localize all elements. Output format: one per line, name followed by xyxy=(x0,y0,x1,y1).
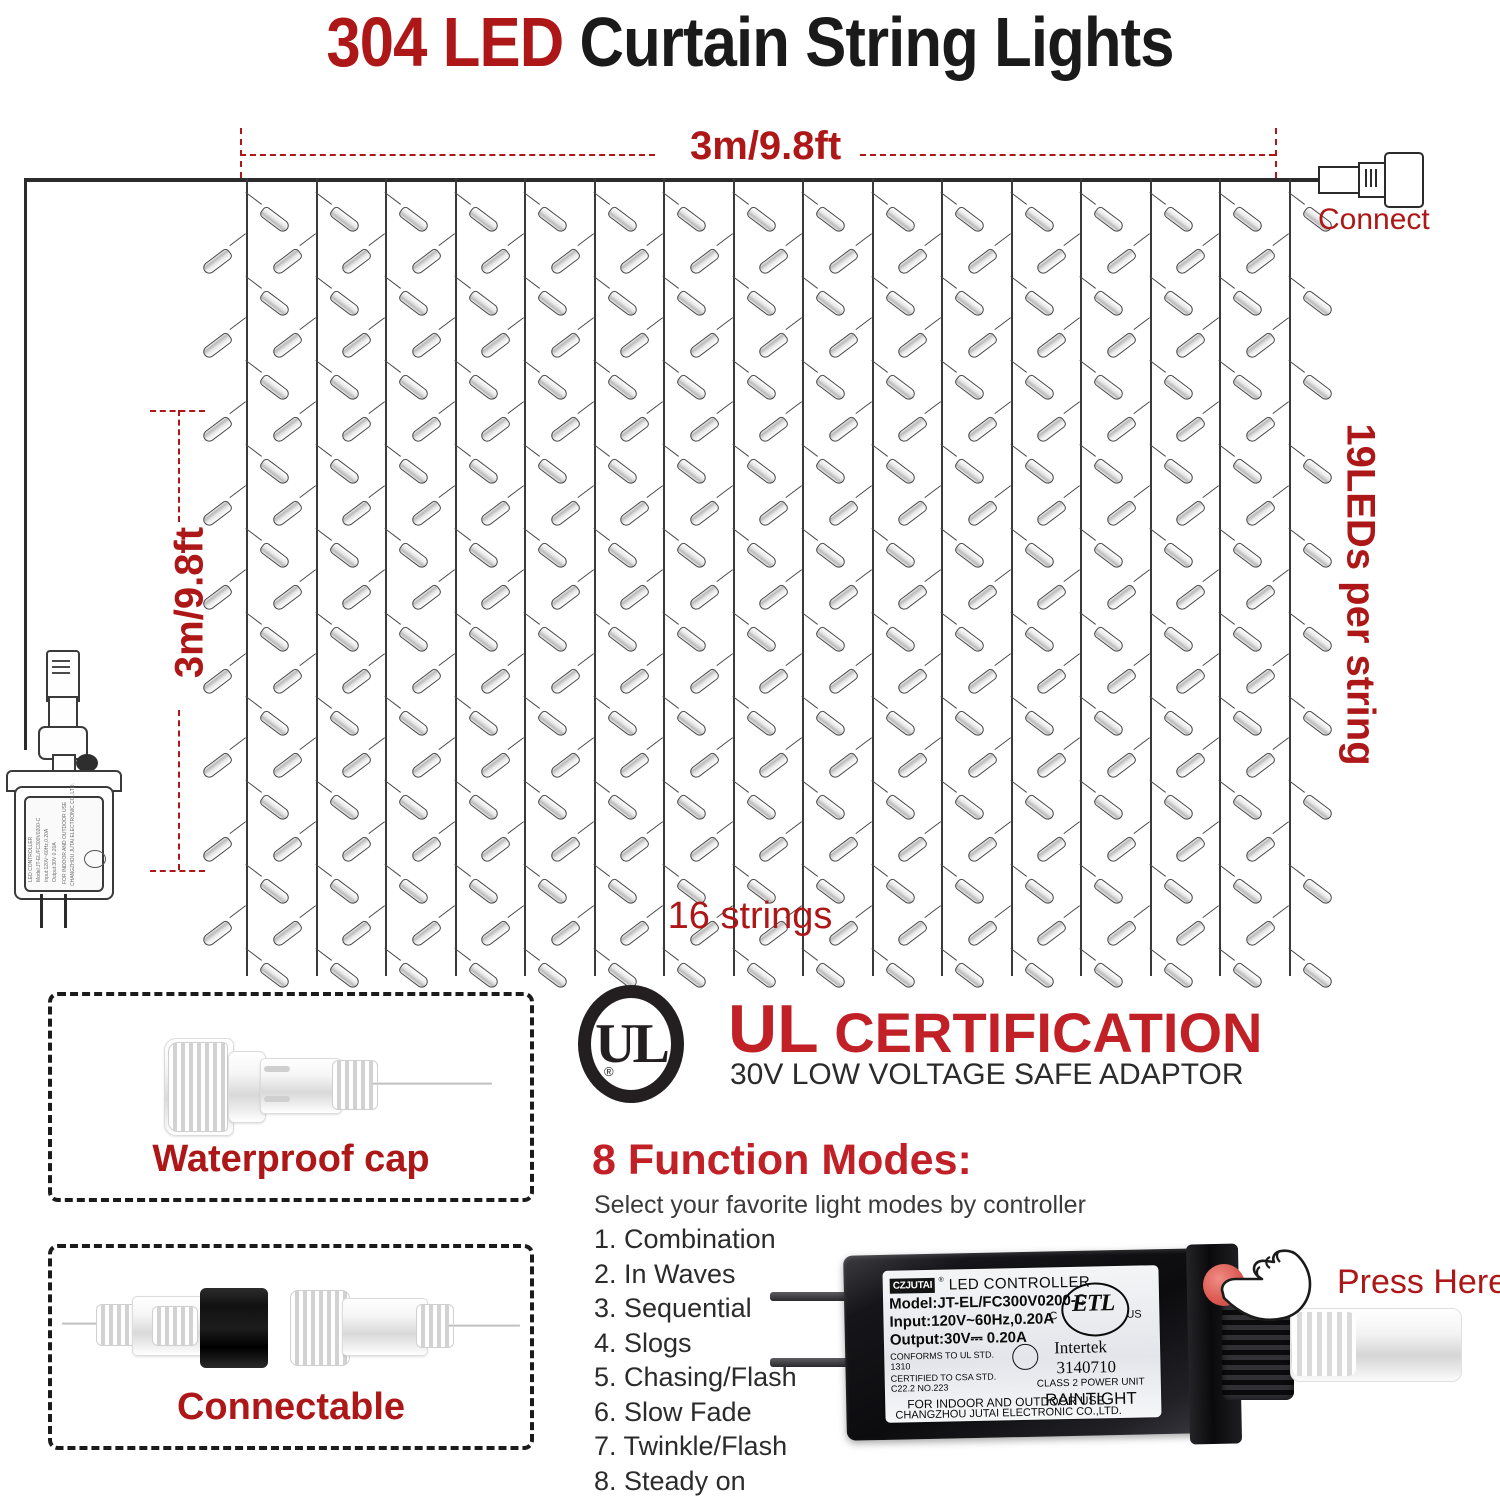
led-bulb-glyph xyxy=(1174,667,1207,696)
led-bulb-glyph xyxy=(548,835,581,864)
led-bulb xyxy=(941,654,942,655)
led-lead-wire xyxy=(994,317,1011,330)
led-bulb xyxy=(663,444,664,445)
led-bulb xyxy=(941,486,942,487)
led-bulb-glyph xyxy=(1092,289,1125,318)
led-bulb xyxy=(1080,780,1081,781)
led-lead-wire xyxy=(1272,821,1289,834)
list-item: 5. Chasing/Flash xyxy=(594,1360,797,1395)
led-bulb xyxy=(455,612,456,613)
led-lead-wire xyxy=(646,401,663,414)
led-bulb xyxy=(1080,696,1081,697)
led-bulb xyxy=(733,948,734,949)
led-bulb-glyph xyxy=(1162,625,1195,654)
led-bulb-glyph xyxy=(1162,457,1195,486)
led-bulb-glyph xyxy=(687,667,720,696)
etl-mark-letters: ETL xyxy=(1061,1290,1126,1318)
led-lead-wire xyxy=(1063,485,1080,498)
function-modes-list: 1. Combination 2. In Waves 3. Sequential… xyxy=(594,1222,797,1498)
led-bulb xyxy=(385,234,386,235)
led-bulb xyxy=(524,948,525,949)
led-bulb xyxy=(385,654,386,655)
led-lead-wire xyxy=(438,653,455,666)
led-bulb-glyph xyxy=(548,751,581,780)
led-bulb xyxy=(733,864,734,865)
led-bulb xyxy=(316,276,317,277)
led-lead-wire xyxy=(229,821,246,834)
led-lead-wire xyxy=(994,569,1011,582)
led-bulb xyxy=(663,948,664,949)
led-bulb xyxy=(316,318,317,319)
led-bulb-glyph xyxy=(965,667,998,696)
led-bulb xyxy=(524,318,525,319)
led-bulb-glyph xyxy=(270,667,303,696)
led-bulb-glyph xyxy=(409,835,442,864)
led-lead-wire xyxy=(438,737,455,750)
led-bulb xyxy=(663,234,664,235)
led-bulb xyxy=(941,822,942,823)
led-bulb xyxy=(316,570,317,571)
led-bulb xyxy=(1150,948,1151,949)
led-bulb-glyph xyxy=(397,541,430,570)
led-bulb-glyph xyxy=(814,625,847,654)
led-bulb-glyph xyxy=(258,625,291,654)
led-bulb-glyph xyxy=(536,625,569,654)
led-bulb xyxy=(802,612,803,613)
list-item: 2. In Waves xyxy=(594,1257,797,1292)
led-bulb xyxy=(246,234,247,235)
led-bulb xyxy=(594,822,595,823)
led-bulb-glyph xyxy=(826,331,859,360)
led-lead-wire xyxy=(646,821,663,834)
led-bulb xyxy=(663,276,664,277)
led-lead-wire xyxy=(1063,401,1080,414)
led-bulb-glyph xyxy=(1023,625,1056,654)
led-bulb-glyph xyxy=(1243,583,1276,612)
led-lead-wire xyxy=(785,653,802,666)
led-bulb-glyph xyxy=(884,457,917,486)
led-lead-wire xyxy=(1133,737,1150,750)
led-bulb xyxy=(1011,738,1012,739)
led-lead-wire xyxy=(299,569,316,582)
led-bulb xyxy=(1219,612,1220,613)
led-bulb-glyph xyxy=(1301,289,1334,318)
led-bulb xyxy=(733,234,734,235)
led-bulb-glyph xyxy=(757,415,790,444)
led-bulb xyxy=(524,402,525,403)
led-bulb xyxy=(941,276,942,277)
led-lead-wire xyxy=(438,485,455,498)
ul-title-rest: CERTIFICATION xyxy=(819,1001,1263,1064)
led-bulb-glyph xyxy=(1231,709,1264,738)
led-bulb xyxy=(455,234,456,235)
led-bulb-glyph xyxy=(745,289,778,318)
led-lead-wire xyxy=(577,653,594,666)
led-bulb xyxy=(1011,864,1012,865)
led-lead-wire xyxy=(1272,317,1289,330)
led-bulb xyxy=(1219,234,1220,235)
led-bulb-glyph xyxy=(1023,961,1056,990)
led-bulb-glyph xyxy=(201,751,234,780)
led-bulb xyxy=(385,528,386,529)
led-lead-wire xyxy=(577,401,594,414)
led-lead-wire xyxy=(994,653,1011,666)
led-bulb xyxy=(1080,444,1081,445)
led-lead-wire xyxy=(855,653,872,666)
led-bulb-glyph xyxy=(826,751,859,780)
led-bulb-glyph xyxy=(745,373,778,402)
led-lead-wire xyxy=(785,233,802,246)
led-bulb-glyph xyxy=(1162,793,1195,822)
list-item: 8. Steady on xyxy=(594,1464,797,1498)
led-bulb xyxy=(1080,864,1081,865)
led-bulb-glyph xyxy=(409,499,442,528)
led-bulb-glyph xyxy=(1174,835,1207,864)
led-bulb xyxy=(872,864,873,865)
led-bulb-glyph xyxy=(548,583,581,612)
led-bulb-glyph xyxy=(328,793,361,822)
led-bulb xyxy=(455,402,456,403)
led-bulb-glyph xyxy=(328,205,361,234)
led-bulb-glyph xyxy=(953,625,986,654)
led-bulb-glyph xyxy=(826,835,859,864)
led-bulb xyxy=(385,444,386,445)
led-bulb xyxy=(316,948,317,949)
led-bulb xyxy=(316,528,317,529)
led-bulb xyxy=(1219,864,1220,865)
led-bulb-glyph xyxy=(757,499,790,528)
led-bulb xyxy=(1150,486,1151,487)
controller-model: Model:JT-EL/FC300V0200-C xyxy=(889,1293,1087,1312)
led-bulb-glyph xyxy=(467,541,500,570)
led-bulb xyxy=(1219,192,1220,193)
led-bulb-glyph xyxy=(1174,415,1207,444)
led-lead-wire xyxy=(1202,233,1219,246)
led-bulb xyxy=(1080,654,1081,655)
led-lead-wire xyxy=(438,317,455,330)
led-bulb-glyph xyxy=(397,205,430,234)
led-bulb-glyph xyxy=(896,415,929,444)
led-bulb-glyph xyxy=(397,373,430,402)
led-bulb xyxy=(594,318,595,319)
led-lead-wire xyxy=(924,233,941,246)
led-bulb xyxy=(1219,570,1220,571)
led-lead-wire xyxy=(1272,485,1289,498)
led-bulb-glyph xyxy=(884,541,917,570)
led-bulb-glyph xyxy=(397,625,430,654)
led-lead-wire xyxy=(577,821,594,834)
led-bulb xyxy=(246,696,247,697)
led-bulb-glyph xyxy=(606,289,639,318)
led-bulb-glyph xyxy=(201,247,234,276)
led-bulb-glyph xyxy=(1162,709,1195,738)
led-lead-wire xyxy=(716,737,733,750)
led-bulb xyxy=(455,360,456,361)
led-lead-wire xyxy=(1202,569,1219,582)
led-bulb-glyph xyxy=(1092,373,1125,402)
led-bulb xyxy=(1080,822,1081,823)
led-bulb xyxy=(1289,612,1290,613)
led-bulb xyxy=(1219,318,1220,319)
led-bulb-glyph xyxy=(618,415,651,444)
led-bulb-glyph xyxy=(1174,583,1207,612)
led-bulb-glyph xyxy=(340,415,373,444)
led-bulb xyxy=(524,780,525,781)
led-bulb xyxy=(1011,444,1012,445)
led-bulb xyxy=(316,444,317,445)
led-bulb-glyph xyxy=(745,961,778,990)
led-bulb xyxy=(1219,696,1220,697)
led-bulb xyxy=(524,528,525,529)
led-bulb xyxy=(385,738,386,739)
led-bulb-glyph xyxy=(814,961,847,990)
led-bulb-glyph xyxy=(884,625,917,654)
led-bulb xyxy=(594,612,595,613)
led-bulb-glyph xyxy=(675,793,708,822)
controller-brand-registered: ® xyxy=(939,1277,944,1284)
led-bulb xyxy=(872,528,873,529)
led-bulb-glyph xyxy=(826,667,859,696)
led-bulb-glyph xyxy=(258,373,291,402)
led-bulb-glyph xyxy=(757,583,790,612)
led-bulb xyxy=(663,486,664,487)
led-lead-wire xyxy=(924,569,941,582)
led-bulb xyxy=(1289,318,1290,319)
led-bulb xyxy=(663,402,664,403)
led-bulb-glyph xyxy=(409,667,442,696)
ul-title-big: UL xyxy=(728,991,819,1067)
led-bulb xyxy=(316,864,317,865)
led-bulb xyxy=(663,192,664,193)
led-bulb-glyph xyxy=(548,331,581,360)
led-bulb xyxy=(246,318,247,319)
led-bulb xyxy=(1289,948,1290,949)
led-bulb-glyph xyxy=(814,457,847,486)
led-bulb xyxy=(872,276,873,277)
led-bulb-glyph xyxy=(675,709,708,738)
strings-count-label: 16 strings xyxy=(0,895,1500,938)
led-bulb xyxy=(1289,528,1290,529)
led-bulb-glyph xyxy=(675,541,708,570)
led-bulb xyxy=(1289,864,1290,865)
led-bulb xyxy=(316,696,317,697)
led-bulb xyxy=(1150,402,1151,403)
led-bulb xyxy=(1289,234,1290,235)
led-bulb-glyph xyxy=(548,415,581,444)
led-bulb-glyph xyxy=(258,457,291,486)
led-bulb xyxy=(455,738,456,739)
led-bulb xyxy=(1011,318,1012,319)
list-item: 7. Twinkle/Flash xyxy=(594,1429,797,1464)
led-lead-wire xyxy=(855,569,872,582)
led-bulb xyxy=(455,948,456,949)
led-lead-wire xyxy=(994,737,1011,750)
led-lead-wire xyxy=(368,233,385,246)
led-bulb-glyph xyxy=(953,289,986,318)
led-bulb-glyph xyxy=(965,583,998,612)
led-lead-wire xyxy=(507,569,524,582)
led-bulb-glyph xyxy=(1301,373,1334,402)
led-bulb xyxy=(941,528,942,529)
led-bulb-glyph xyxy=(1174,247,1207,276)
led-bulb-glyph xyxy=(1231,289,1264,318)
led-bulb xyxy=(316,486,317,487)
led-bulb-glyph xyxy=(826,499,859,528)
led-bulb-glyph xyxy=(1301,793,1334,822)
led-bulb-glyph xyxy=(409,751,442,780)
adapter-text-company: CHANGZHOU JUTAI ELECTRONIC CO.,LTD. xyxy=(70,783,76,886)
led-bulb-glyph xyxy=(1023,457,1056,486)
led-bulb-glyph xyxy=(965,835,998,864)
led-bulb xyxy=(1219,738,1220,739)
led-lead-wire xyxy=(438,401,455,414)
led-bulb xyxy=(385,276,386,277)
led-bulb-glyph xyxy=(884,793,917,822)
led-bulb xyxy=(594,486,595,487)
controller-raintight: RAINTIGHT xyxy=(1045,1390,1137,1409)
led-lead-wire xyxy=(716,821,733,834)
led-bulb xyxy=(663,696,664,697)
led-bulb xyxy=(1219,360,1220,361)
led-bulb-glyph xyxy=(479,415,512,444)
led-bulb xyxy=(941,570,942,571)
led-bulb-glyph xyxy=(606,625,639,654)
connectable-box: Connectable xyxy=(48,1244,534,1450)
led-bulb-glyph xyxy=(814,793,847,822)
led-bulb-glyph xyxy=(467,289,500,318)
function-modes-subheading: Select your favorite light modes by cont… xyxy=(594,1191,1086,1220)
led-bulb-glyph xyxy=(618,499,651,528)
led-bulb xyxy=(872,486,873,487)
led-lead-wire xyxy=(994,401,1011,414)
ul-registered-icon: ® xyxy=(604,1064,614,1079)
controller-output: Output:30V⎓ 0.20A xyxy=(890,1330,1027,1348)
led-lead-wire xyxy=(924,821,941,834)
led-lead-wire xyxy=(785,821,802,834)
led-bulb xyxy=(316,360,317,361)
led-bulb xyxy=(802,696,803,697)
led-bulb xyxy=(455,444,456,445)
led-bulb xyxy=(1150,528,1151,529)
led-bulb xyxy=(1289,696,1290,697)
led-bulb xyxy=(802,738,803,739)
led-bulb xyxy=(1289,276,1290,277)
led-bulb-glyph xyxy=(409,415,442,444)
led-lead-wire xyxy=(368,821,385,834)
led-bulb xyxy=(802,234,803,235)
led-bulb xyxy=(455,780,456,781)
led-bulb xyxy=(1011,360,1012,361)
led-bulb xyxy=(802,192,803,193)
led-bulb-glyph xyxy=(884,205,917,234)
led-lead-wire xyxy=(1063,653,1080,666)
led-bulb-glyph xyxy=(270,499,303,528)
led-bulb xyxy=(1011,948,1012,949)
led-lead-wire xyxy=(1272,401,1289,414)
led-bulb-glyph xyxy=(965,751,998,780)
led-bulb xyxy=(385,780,386,781)
led-bulb xyxy=(524,276,525,277)
led-bulb xyxy=(246,402,247,403)
led-bulb-glyph xyxy=(409,247,442,276)
led-bulb-glyph xyxy=(606,205,639,234)
led-string xyxy=(1219,178,1221,976)
led-bulb xyxy=(385,864,386,865)
led-bulb xyxy=(663,528,664,529)
led-bulb xyxy=(524,192,525,193)
led-bulb xyxy=(733,822,734,823)
led-bulb xyxy=(802,864,803,865)
led-bulb xyxy=(1080,570,1081,571)
led-lead-wire xyxy=(855,401,872,414)
led-bulb xyxy=(733,738,734,739)
led-bulb-glyph xyxy=(1162,289,1195,318)
led-bulb-glyph xyxy=(1104,499,1137,528)
led-bulb xyxy=(524,444,525,445)
led-bulb xyxy=(385,570,386,571)
led-bulb xyxy=(1011,528,1012,529)
led-bulb xyxy=(594,402,595,403)
led-bulb xyxy=(1289,738,1290,739)
led-bulb-glyph xyxy=(1243,247,1276,276)
page-title-highlight: 304 LED xyxy=(326,3,563,81)
led-bulb-glyph xyxy=(687,247,720,276)
led-bulb-glyph xyxy=(340,499,373,528)
led-bulb xyxy=(524,234,525,235)
led-bulb-glyph xyxy=(953,961,986,990)
led-lead-wire xyxy=(438,569,455,582)
led-bulb-glyph xyxy=(1301,541,1334,570)
led-bulb-glyph xyxy=(965,331,998,360)
led-bulb xyxy=(524,696,525,697)
led-lead-wire xyxy=(716,485,733,498)
led-lead-wire xyxy=(368,653,385,666)
led-lead-wire xyxy=(229,569,246,582)
led-lead-wire xyxy=(1133,653,1150,666)
led-lead-wire xyxy=(299,821,316,834)
led-bulb-glyph xyxy=(896,751,929,780)
intertek-name: Intertek xyxy=(1054,1338,1107,1356)
led-bulb xyxy=(1150,864,1151,865)
led-lead-wire xyxy=(577,317,594,330)
led-lead-wire xyxy=(785,737,802,750)
led-bulb xyxy=(1011,612,1012,613)
led-bulb xyxy=(524,360,525,361)
led-bulb-glyph xyxy=(397,961,430,990)
led-lead-wire xyxy=(1202,401,1219,414)
led-lead-wire xyxy=(299,737,316,750)
led-lead-wire xyxy=(368,485,385,498)
led-bulb xyxy=(802,948,803,949)
led-bulb xyxy=(1080,318,1081,319)
led-bulb xyxy=(872,570,873,571)
led-bulb-glyph xyxy=(1243,415,1276,444)
list-item: 6. Slow Fade xyxy=(594,1395,797,1430)
led-lead-wire xyxy=(855,317,872,330)
led-bulb xyxy=(663,864,664,865)
led-bulb xyxy=(1011,570,1012,571)
controller-certified-line2: C22.2 NO.223 xyxy=(891,1384,949,1394)
led-lead-wire xyxy=(716,401,733,414)
page-title: 304 LED Curtain String Lights xyxy=(90,2,1410,82)
led-bulb xyxy=(1011,696,1012,697)
led-lead-wire xyxy=(229,653,246,666)
led-bulb xyxy=(802,528,803,529)
led-bulb-glyph xyxy=(687,415,720,444)
led-bulb xyxy=(246,444,247,445)
led-bulb-glyph xyxy=(397,289,430,318)
led-bulb xyxy=(802,780,803,781)
